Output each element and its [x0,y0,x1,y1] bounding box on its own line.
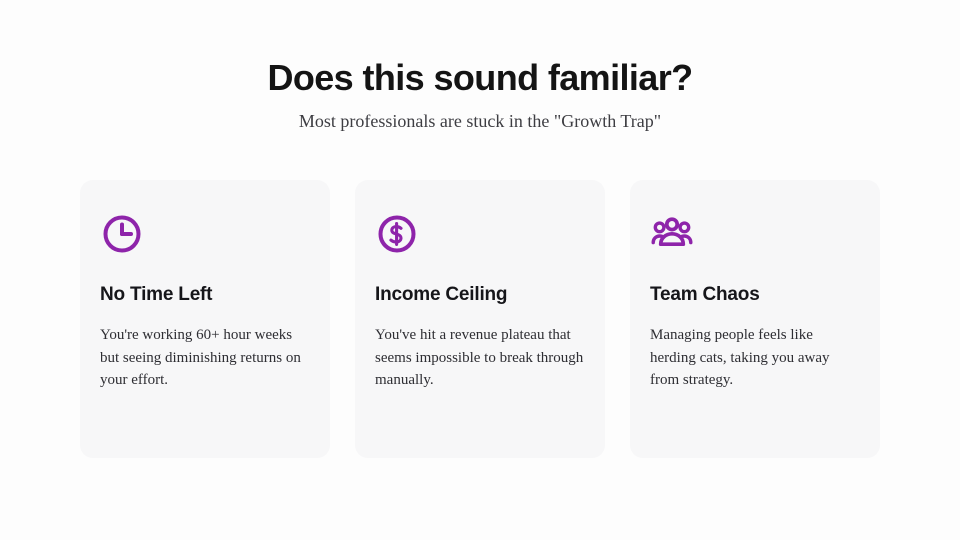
clock-icon [100,212,144,256]
page-subtitle: Most professionals are stuck in the "Gro… [0,109,960,133]
card-body-text: Managing people feels like herding cats,… [650,324,860,392]
section-header: Does this sound familiar? Most professio… [0,56,960,133]
pain-point-card-team-chaos[interactable]: Team Chaos Managing people feels like he… [630,180,880,458]
pain-point-card-no-time-left[interactable]: No Time Left You're working 60+ hour wee… [80,180,330,458]
users-group-icon [650,212,694,256]
card-body-text: You're working 60+ hour weeks but seeing… [100,324,310,392]
pain-point-card-grid: No Time Left You're working 60+ hour wee… [80,180,880,458]
card-title: No Time Left [100,282,310,308]
card-title: Team Chaos [650,282,860,308]
landing-pain-points-section: Does this sound familiar? Most professio… [0,0,960,540]
pain-point-card-income-ceiling[interactable]: Income Ceiling You've hit a revenue plat… [355,180,605,458]
card-title: Income Ceiling [375,282,585,308]
page-title: Does this sound familiar? [0,56,960,100]
card-body-text: You've hit a revenue plateau that seems … [375,324,585,392]
dollar-circle-icon [375,212,419,256]
